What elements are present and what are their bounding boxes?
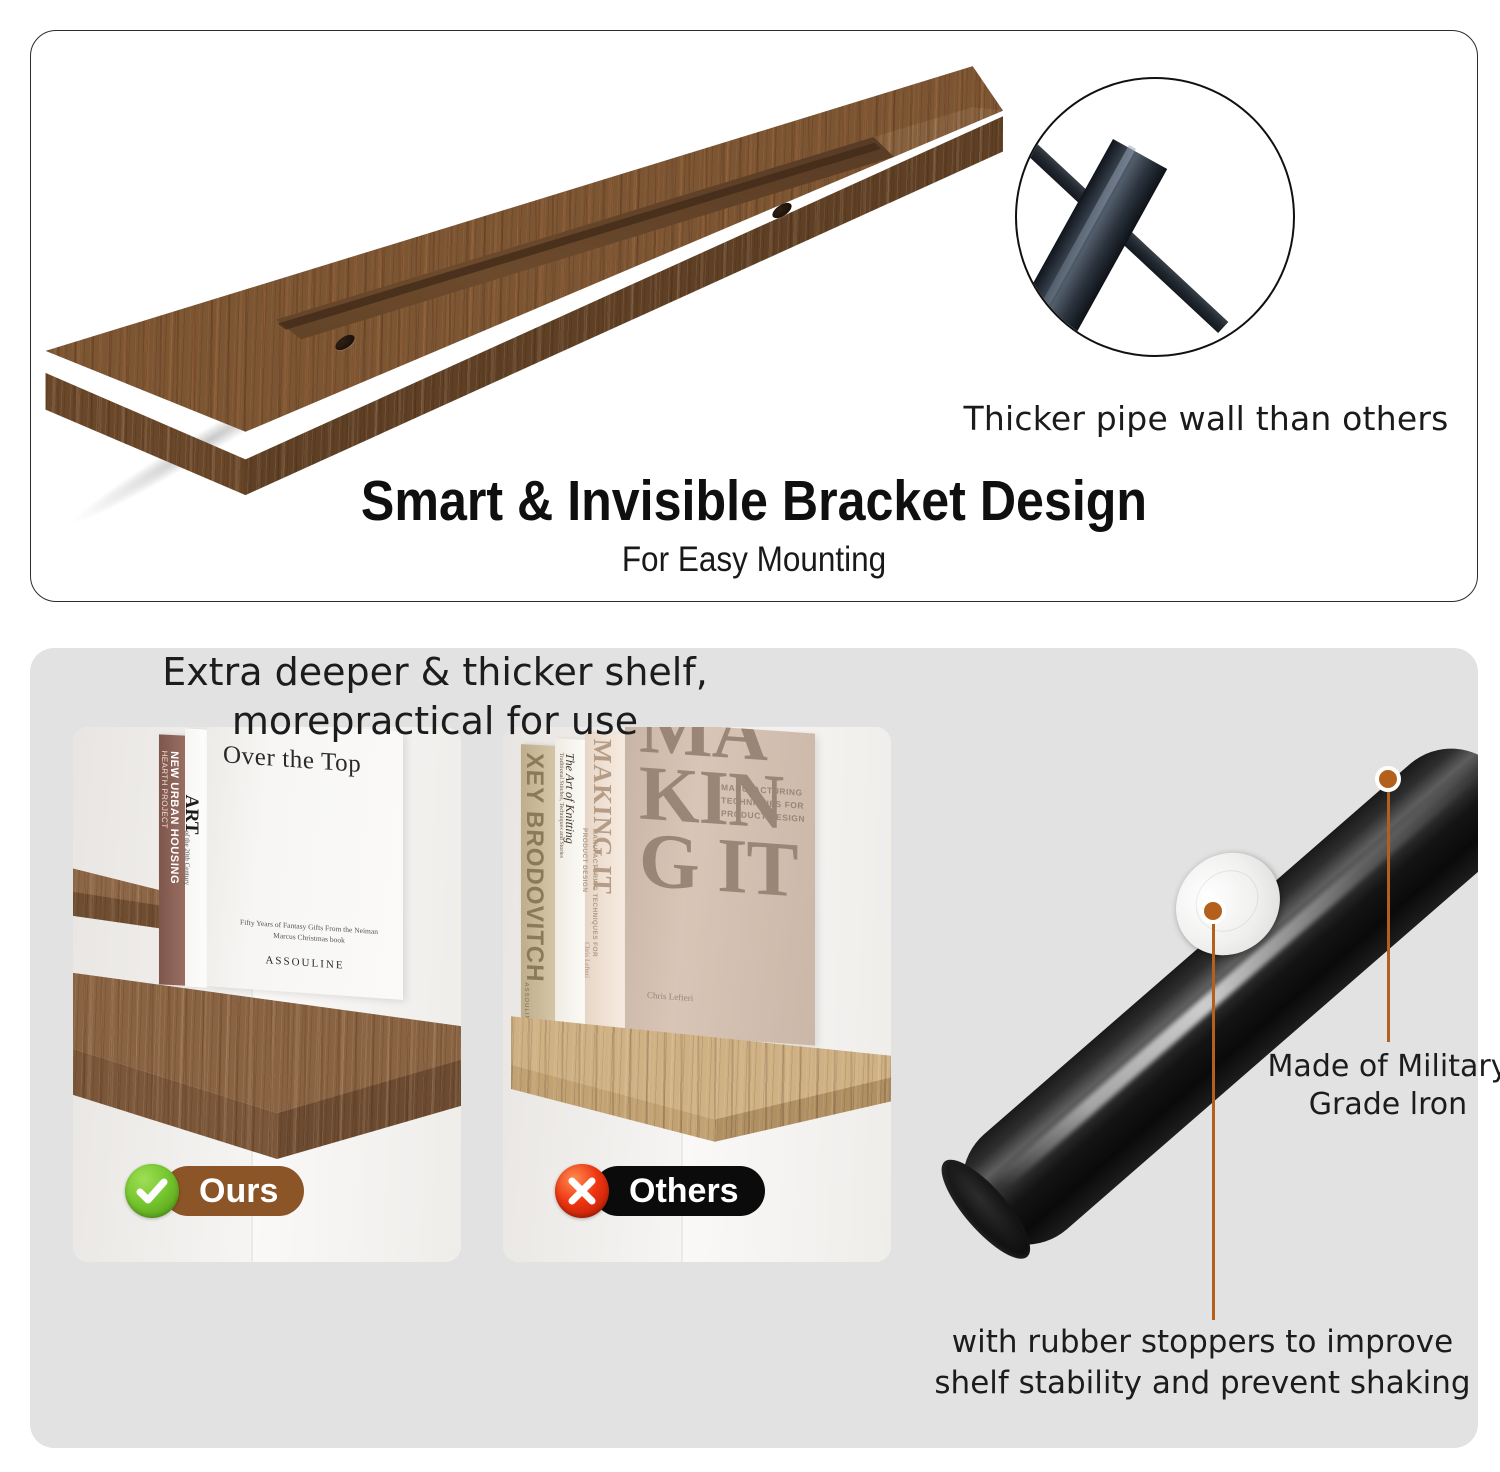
leader-line-stopper	[1212, 920, 1215, 1320]
cross-circle-icon	[555, 1164, 609, 1218]
list-item: XEY BRODOVITCH ASSOULINE	[521, 744, 555, 1032]
page-subtitle: For Easy Mounting	[103, 540, 1404, 580]
callout-dot-stopper	[1200, 898, 1226, 924]
magnifier-caption: Thicker pipe wall than others	[946, 399, 1466, 438]
ours-badge: Ours	[73, 1164, 461, 1218]
book-cover-subtitle: MANUFACTURING TECHNIQUES FOR PRODUCT DES…	[721, 781, 813, 827]
book-spine-title: The Art of Knitting	[562, 753, 577, 845]
magnifier-circle	[1015, 77, 1295, 357]
iron-caption-line1: Made of Military	[1268, 1049, 1500, 1084]
list-item: Over the Top Fifty Years of Fantasy Gift…	[207, 727, 403, 1000]
check-circle-icon	[125, 1164, 179, 1218]
magnifier-content	[1017, 79, 1293, 355]
page-title: Smart & Invisible Bracket Design	[118, 468, 1390, 534]
shelf-comparison-caption: Extra deeper & thicker shelf, morepracti…	[20, 648, 850, 747]
list-item: ART of the 20th Century	[185, 728, 207, 987]
book-publisher: ASSOULINE	[207, 950, 403, 976]
infographic-root: Thicker pipe wall than others Smart & In…	[0, 0, 1500, 1472]
shelf-caption-line2: morepractical for use	[232, 699, 638, 743]
book-cover-title: Over the Top	[223, 741, 361, 779]
stopper-caption-line2: shelf stability and prevent shaking	[934, 1365, 1470, 1401]
stopper-caption-line1: with rubber stoppers to improve	[952, 1324, 1453, 1360]
floating-shelf-illustration	[30, 30, 1003, 527]
iron-caption: Made of Military Grade lron	[1248, 1048, 1500, 1125]
book-spine-subtitle: Traditional Stitches, Techniques and Sto…	[558, 752, 564, 858]
iron-caption-line2: Grade lron	[1309, 1087, 1467, 1122]
book-spine-title: ART	[180, 794, 202, 835]
list-item: MAKING IT MANUFACTURING TECHNIQUES FOR P…	[625, 727, 815, 1046]
others-badge-label: Others	[593, 1166, 765, 1216]
shelf-caption-line1: Extra deeper & thicker shelf,	[162, 650, 708, 694]
list-item: NEW URBAN HOUSING HEARTH PROJECT	[159, 734, 185, 985]
book-author: Chris Lefteri	[583, 942, 591, 978]
book-cover-subtitle: Fifty Years of Fantasy Gifts From the Ne…	[229, 916, 389, 950]
book-spine-subtitle: HEARTH PROJECT	[160, 750, 169, 828]
ours-badge-label: Ours	[163, 1166, 304, 1216]
leader-line-iron	[1387, 790, 1390, 1042]
stopper-caption: with rubber stoppers to improve shelf st…	[930, 1322, 1475, 1404]
book-spine-title: XEY BRODOVITCH	[520, 752, 548, 983]
others-badge: Others	[503, 1164, 891, 1218]
ours-comparison-card: NEW URBAN HOUSING HEARTH PROJECT ART of …	[73, 727, 461, 1262]
book-spine-title: NEW URBAN HOUSING	[168, 751, 180, 885]
list-item: MAKING IT MANUFACTURING TECHNIQUES FOR P…	[585, 732, 625, 1034]
bracket-design-panel: Thicker pipe wall than others Smart & In…	[30, 30, 1478, 602]
book-spine-subtitle: of the 20th Century	[183, 830, 191, 885]
callout-dot-iron	[1375, 766, 1401, 792]
others-comparison-card: XEY BRODOVITCH ASSOULINE The Art of Knit…	[503, 727, 891, 1262]
book-author: Chris Lefteri	[647, 990, 693, 1003]
